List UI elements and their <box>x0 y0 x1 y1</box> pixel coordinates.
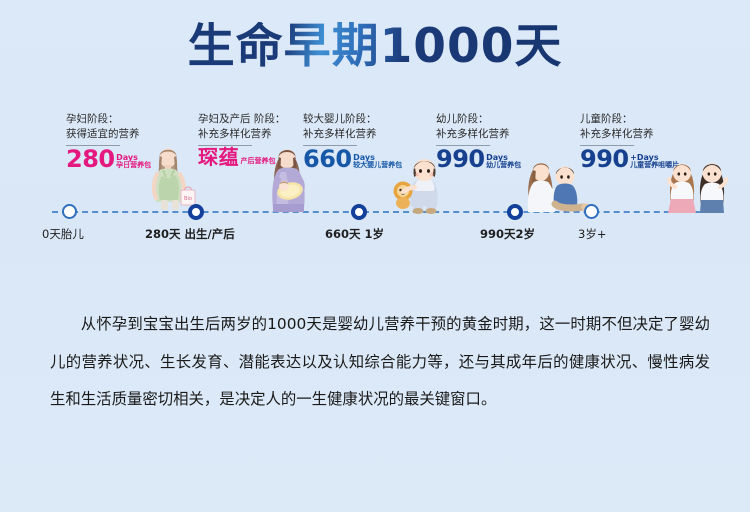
timeline-label-280: 280天 出生/产后 <box>145 226 235 242</box>
stage-toddler-line1: 幼儿阶段： <box>436 112 596 127</box>
stage-pregnancy-number: 280 <box>66 147 115 171</box>
stage-child-emphasis: 990 +Days 儿童营养咀嚼片 <box>580 147 740 171</box>
stage-child-rule <box>580 145 634 146</box>
stage-toddler-emphasis: 990 Days 幼儿营养包 <box>436 147 596 171</box>
stage-pregnancy-rule <box>66 145 120 146</box>
stage-child[interactable]: 儿童阶段： 补充多样化营养 990 +Days 儿童营养咀嚼片 <box>580 112 740 171</box>
timeline: Bio <box>0 112 750 247</box>
stage-older-infant-rule <box>303 145 357 146</box>
timeline-node-280[interactable] <box>188 204 204 220</box>
stage-toddler-line2: 补充多样化营养 <box>436 127 596 142</box>
timeline-node-0[interactable] <box>62 204 77 219</box>
stage-older-infant-sub: 较大婴儿营养包 <box>353 162 402 169</box>
page-title: 生命早期1000天 <box>188 22 563 73</box>
stage-postpartum-rule <box>198 145 252 146</box>
stage-pregnancy-side: Days 孕日营养包 <box>116 154 151 171</box>
page-root: 生命早期1000天 <box>0 0 750 512</box>
stage-toddler[interactable]: 幼儿阶段： 补充多样化营养 990 Days 幼儿营养包 <box>436 112 596 171</box>
stage-older-infant-number: 660 <box>303 147 352 171</box>
timeline-axis <box>52 211 720 213</box>
stage-toddler-number: 990 <box>436 147 485 171</box>
stage-toddler-rule <box>436 145 490 146</box>
stage-toddler-sub: 幼儿营养包 <box>486 162 521 169</box>
stage-postpartum-word: 琛蕴 <box>198 147 239 167</box>
body-text: 从怀孕到宝宝出生后两岁的1000天是婴幼儿营养干预的黄金时期，这一时期不但决定了… <box>50 306 710 419</box>
timeline-label-660: 660天 1岁 <box>325 226 384 242</box>
timeline-label-3y: 3岁+ <box>578 226 606 242</box>
svg-text:Bio: Bio <box>184 196 192 202</box>
stage-toddler-side: Days 幼儿营养包 <box>486 154 521 171</box>
stage-pregnancy-sub: 孕日营养包 <box>116 162 151 169</box>
page-title-wrap: 生命早期1000天 <box>0 22 750 73</box>
stage-postpartum-sub: 产后营养包 <box>241 158 276 165</box>
timeline-node-3y[interactable] <box>584 204 599 219</box>
timeline-node-660[interactable] <box>351 204 367 220</box>
stage-child-number: 990 <box>580 147 629 171</box>
stage-child-line2: 补充多样化营养 <box>580 127 740 142</box>
timeline-label-0: 0天胎儿 <box>42 226 84 242</box>
stage-older-infant-side: Days 较大婴儿营养包 <box>353 154 402 171</box>
timeline-label-990: 990天2岁 <box>480 226 535 242</box>
body-paragraph: 从怀孕到宝宝出生后两岁的1000天是婴幼儿营养干预的黄金时期，这一时期不但决定了… <box>50 306 710 419</box>
stage-child-sub: 儿童营养咀嚼片 <box>630 162 679 169</box>
stage-child-side: +Days 儿童营养咀嚼片 <box>630 154 679 171</box>
stage-postpartum-side: 产后营养包 <box>241 158 276 166</box>
timeline-node-990[interactable] <box>507 204 523 220</box>
stage-child-line1: 儿童阶段： <box>580 112 740 127</box>
